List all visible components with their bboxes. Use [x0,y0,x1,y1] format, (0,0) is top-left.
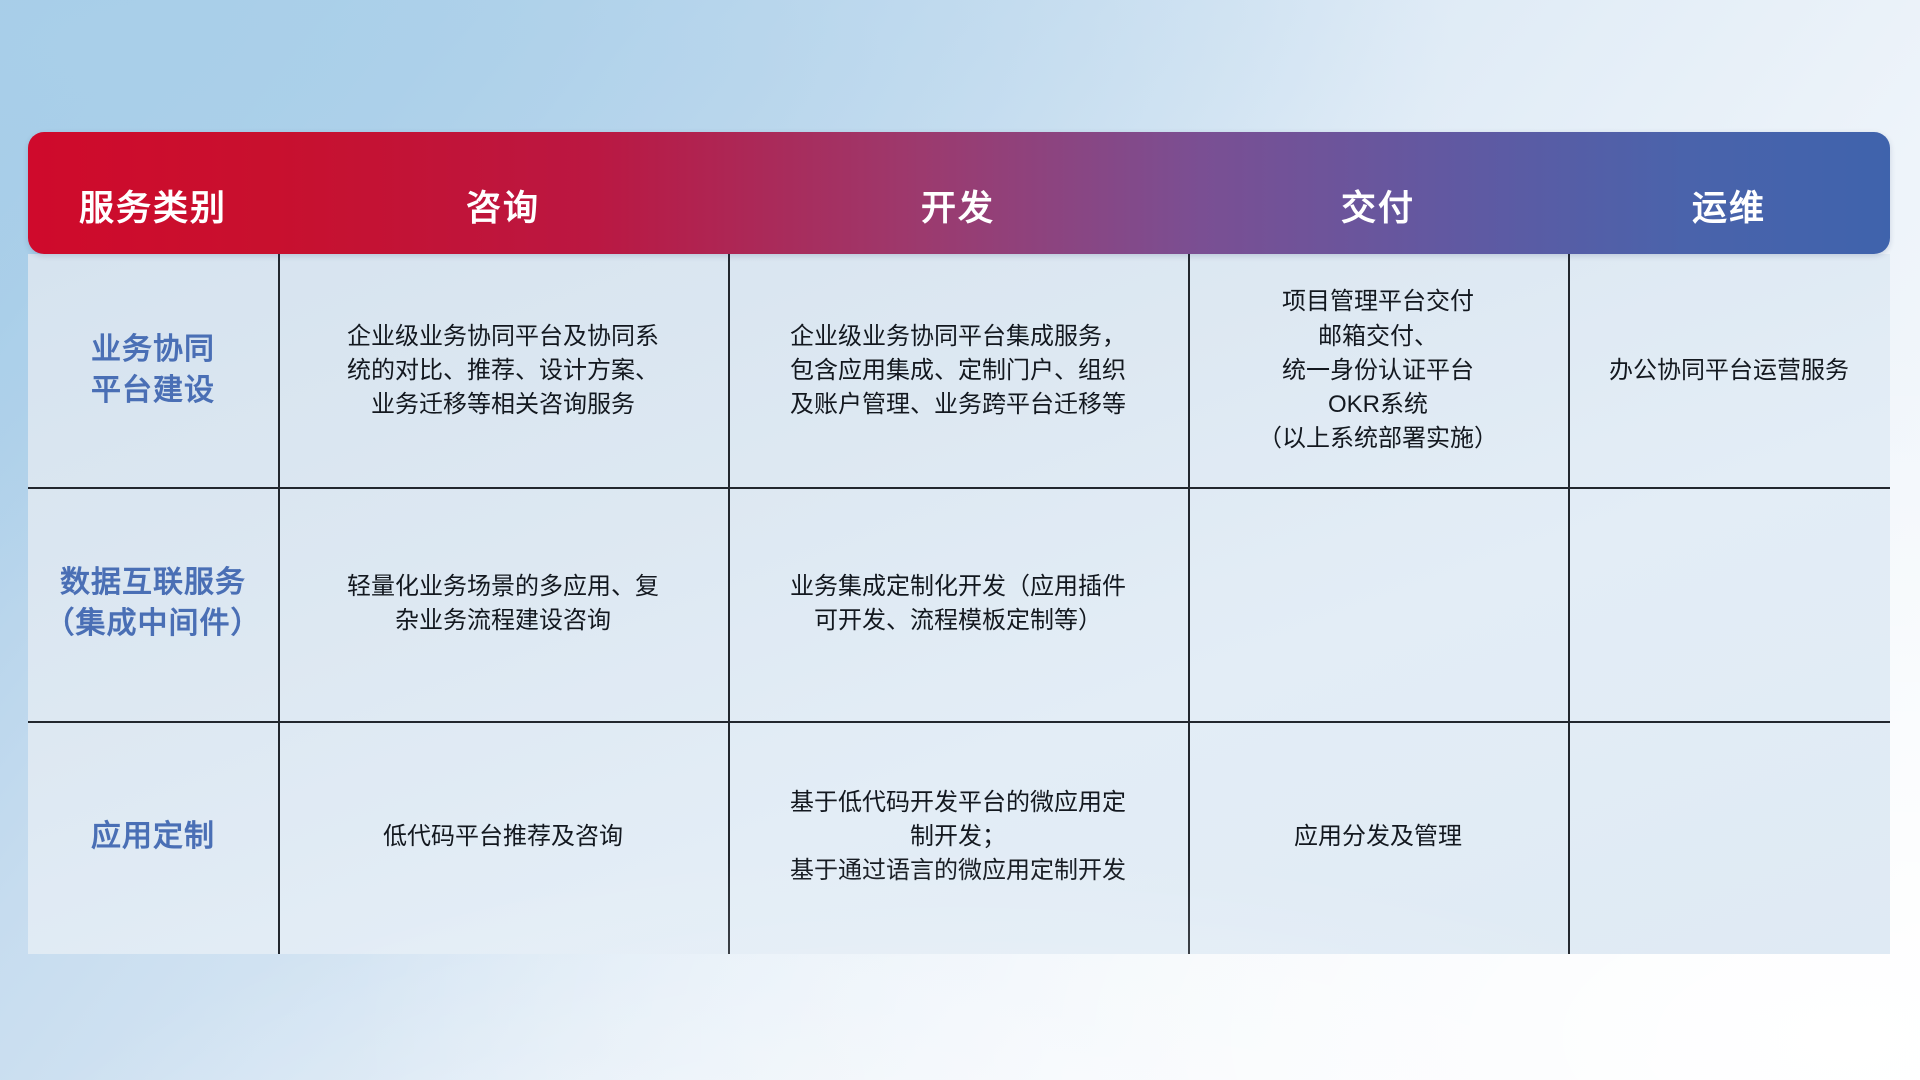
table-row: 应用定制 低代码平台推荐及咨询 基于低代码开发平台的微应用定 制开发； 基于通过… [28,721,1890,954]
cell-delivery [1188,487,1568,720]
column-header-consulting: 咨询 [278,190,728,255]
cell-text: 项目管理平台交付 邮箱交付、 统一身份认证平台 OKR系统 （以上系统部署实施） [1258,285,1498,455]
table-header-row: 服务类别 咨询 开发 交付 运维 [28,132,1890,254]
row-label-text: 业务协同 平台建设 [91,330,215,412]
service-matrix-table: 服务类别 咨询 开发 交付 运维 业务协同 平台建设 企业级业务协同平台及协同系… [28,132,1890,954]
cell-development: 业务集成定制化开发（应用插件 可开发、流程模板定制等） [728,487,1188,720]
row-label-text: 数据互联服务 （集成中间件） [45,563,262,645]
slide-canvas: 服务类别 咨询 开发 交付 运维 业务协同 平台建设 企业级业务协同平台及协同系… [0,0,1920,1080]
column-header-development: 开发 [728,190,1188,255]
table-body: 业务协同 平台建设 企业级业务协同平台及协同系 统的对比、推荐、设计方案、 业务… [28,254,1890,954]
cell-text: 低代码平台推荐及咨询 [383,820,623,854]
column-header-delivery: 交付 [1188,190,1568,255]
cell-development: 基于低代码开发平台的微应用定 制开发； 基于通过语言的微应用定制开发 [728,721,1188,954]
cell-consulting: 企业级业务协同平台及协同系 统的对比、推荐、设计方案、 业务迁移等相关咨询服务 [278,254,728,487]
cell-development: 企业级业务协同平台集成服务， 包含应用集成、定制门户、组织 及账户管理、业务跨平… [728,254,1188,487]
cell-operations [1568,721,1890,954]
row-label-cell: 数据互联服务 （集成中间件） [28,487,278,720]
cell-operations: 办公协同平台运营服务 [1568,254,1890,487]
cell-delivery: 应用分发及管理 [1188,721,1568,954]
cell-text: 业务集成定制化开发（应用插件 可开发、流程模板定制等） [790,570,1126,638]
table-row: 数据互联服务 （集成中间件） 轻量化业务场景的多应用、复 杂业务流程建设咨询 业… [28,487,1890,720]
row-label-cell: 业务协同 平台建设 [28,254,278,487]
row-label-text: 应用定制 [91,817,215,858]
table-row: 业务协同 平台建设 企业级业务协同平台及协同系 统的对比、推荐、设计方案、 业务… [28,254,1890,487]
cell-consulting: 低代码平台推荐及咨询 [278,721,728,954]
cell-text: 轻量化业务场景的多应用、复 杂业务流程建设咨询 [347,570,659,638]
row-label-cell: 应用定制 [28,721,278,954]
cell-text: 办公协同平台运营服务 [1609,354,1849,388]
cell-delivery: 项目管理平台交付 邮箱交付、 统一身份认证平台 OKR系统 （以上系统部署实施） [1188,254,1568,487]
column-header-operations: 运维 [1568,190,1890,255]
cell-text: 企业级业务协同平台集成服务， 包含应用集成、定制门户、组织 及账户管理、业务跨平… [790,320,1126,422]
column-header-category: 服务类别 [28,190,278,255]
cell-text: 企业级业务协同平台及协同系 统的对比、推荐、设计方案、 业务迁移等相关咨询服务 [347,320,659,422]
cell-text: 基于低代码开发平台的微应用定 制开发； 基于通过语言的微应用定制开发 [790,786,1126,888]
cell-consulting: 轻量化业务场景的多应用、复 杂业务流程建设咨询 [278,487,728,720]
cell-operations [1568,487,1890,720]
cell-text: 应用分发及管理 [1294,820,1462,854]
